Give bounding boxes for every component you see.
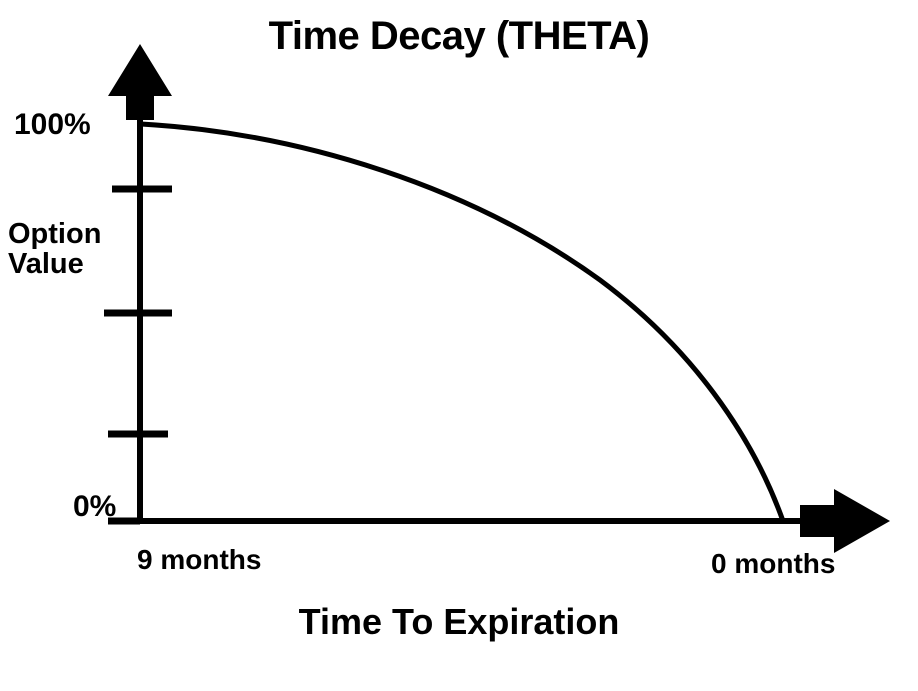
x-axis-label-end: 0 months bbox=[711, 550, 835, 579]
time-decay-chart: Time Decay (THETA) 100% 0% Option Value … bbox=[0, 0, 918, 691]
x-axis-label-start: 9 months bbox=[137, 546, 261, 575]
y-axis-title: Option Value bbox=[8, 220, 128, 279]
plot-area bbox=[0, 0, 918, 691]
y-axis-label-min: 0% bbox=[73, 492, 116, 523]
y-axis-title-line1: Option Value bbox=[8, 220, 128, 279]
decay-curve bbox=[141, 124, 783, 521]
y-axis-label-max: 100% bbox=[14, 110, 91, 141]
y-axis-arrow-icon bbox=[108, 44, 172, 120]
x-axis-title: Time To Expiration bbox=[0, 604, 918, 641]
x-axis-arrow-icon bbox=[800, 489, 890, 553]
